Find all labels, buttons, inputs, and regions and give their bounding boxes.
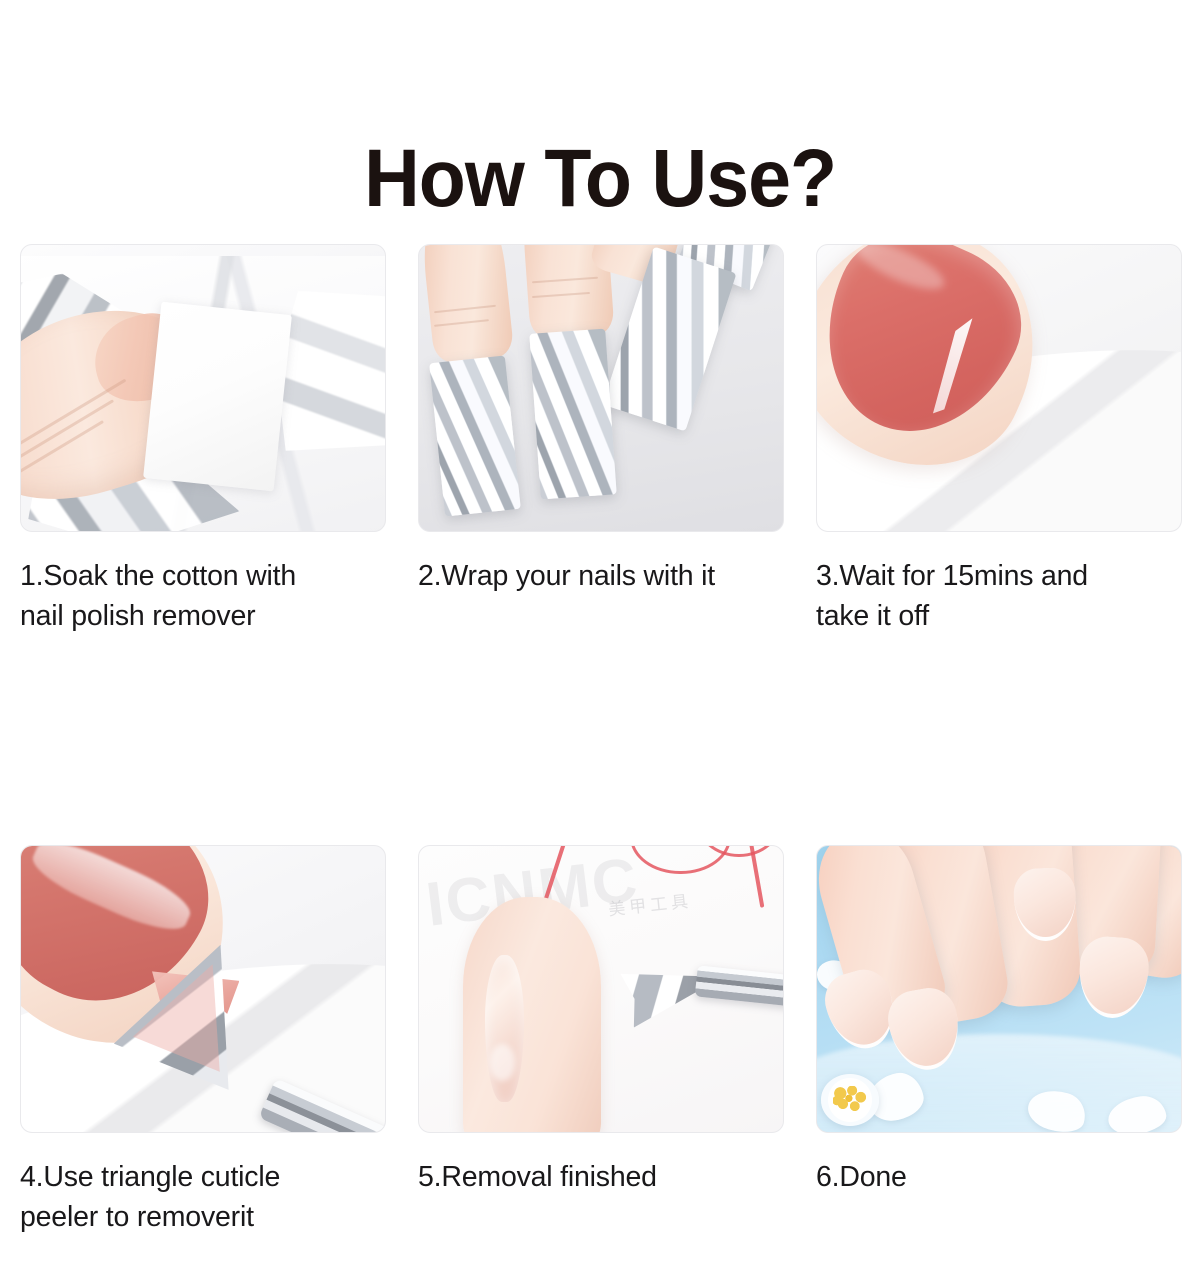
jasmine-flower-icon	[821, 1074, 879, 1125]
step-card-2: 2.Wrap your nails with it	[418, 244, 786, 665]
foil-wrap-shape	[530, 328, 618, 499]
finger-shape	[463, 897, 601, 1132]
step-2-photo	[418, 244, 784, 532]
page-title: How To Use?	[364, 133, 836, 225]
step-2-caption: 2.Wrap your nails with it	[418, 556, 786, 636]
step-card-1: 1.Soak the cotton with nail polish remov…	[20, 244, 388, 665]
infographic-page: How To Use? 1.S	[0, 0, 1200, 1200]
peeler-handle-shape	[694, 966, 783, 1009]
step-card-3: 3.Wait for 15mins and take it off	[816, 244, 1184, 665]
step-3-caption: 3.Wait for 15mins and take it off	[816, 556, 1184, 636]
step-2-photo-inner	[419, 245, 783, 531]
step-6-photo-inner	[817, 846, 1181, 1132]
cotton-pad-shape	[143, 302, 292, 492]
foil-right-shape	[276, 291, 385, 451]
step-5-photo: ICNMC 美甲工具	[418, 845, 784, 1133]
step-5-photo-inner: ICNMC 美甲工具	[419, 846, 783, 1132]
step-1-photo-inner	[21, 245, 385, 531]
finger-shape	[419, 245, 515, 363]
step-3-photo-inner	[817, 245, 1181, 531]
step-6-caption: 6.Done	[816, 1157, 1184, 1237]
step-1-caption: 1.Soak the cotton with nail polish remov…	[20, 556, 388, 636]
step-card-6: 6.Done	[816, 845, 1184, 1265]
step-5-caption: 5.Removal finished	[418, 1157, 786, 1237]
step-4-photo-inner	[21, 846, 385, 1132]
step-3-photo	[816, 244, 1182, 532]
step-card-4: 4.Use triangle cuticle peeler to remover…	[20, 845, 388, 1265]
foil-wrap-shape	[429, 356, 521, 518]
flower-stamen-shape	[833, 1086, 866, 1115]
steps-grid: 1.Soak the cotton with nail polish remov…	[20, 244, 1188, 1265]
natural-nail-shape	[1076, 935, 1151, 1021]
step-card-5: ICNMC 美甲工具 5.Removal finished	[418, 845, 786, 1265]
step-6-photo	[816, 845, 1182, 1133]
step-1-photo	[20, 244, 386, 532]
step-4-photo	[20, 845, 386, 1133]
step-4-caption: 4.Use triangle cuticle peeler to remover…	[20, 1157, 388, 1237]
